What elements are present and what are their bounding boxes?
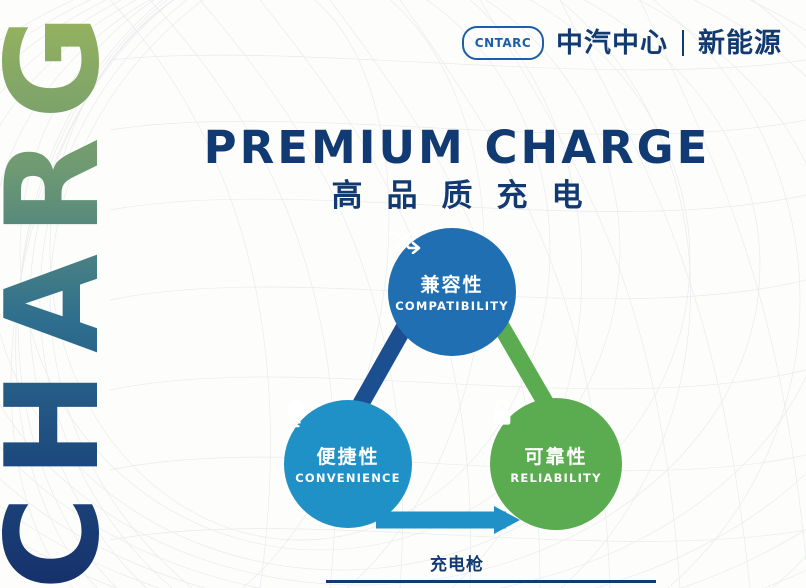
diagram-node-convenience[interactable]: 便捷性 CONVENIENCE — [284, 400, 412, 528]
diagram-node-reliability-label-en: RELIABILITY — [510, 471, 601, 485]
diagram-node-compatibility-label-en: COMPATIBILITY — [395, 299, 509, 313]
triangle-cycle-diagram: 兼容性 COMPATIBILITY 便捷性 CONVENIENCE — [258, 228, 658, 540]
diagram-node-reliability-label-cn: 可靠性 — [524, 447, 587, 470]
company-name-cn: 中汽中心 — [556, 30, 668, 57]
business-unit-cn: 新能源 — [698, 30, 782, 57]
diagram-node-compatibility-label-cn: 兼容性 — [420, 275, 483, 298]
left-vertical-wordmark-text: CHARGE — [0, 0, 108, 588]
footer-divider — [326, 580, 656, 583]
diagram-node-reliability[interactable]: 可靠性 RELIABILITY — [490, 398, 622, 530]
diagram-node-convenience-label-cn: 便捷性 — [316, 447, 379, 470]
page-title-english: PREMIUM CHARGE — [108, 124, 806, 171]
slide-canvas: CHARGE CNTARC 中汽中心 新能源 PREMIUM CHARGE 高品… — [0, 0, 806, 588]
logo-divider — [682, 30, 684, 56]
diagram-node-compatibility[interactable]: 兼容性 COMPATIBILITY — [388, 228, 516, 356]
cntarc-logo-icon: CNTARC — [462, 26, 544, 60]
diagram-node-convenience-label-en: CONVENIENCE — [295, 471, 400, 485]
page-title-chinese: 高品质充电 — [108, 179, 806, 213]
brand-logo: CNTARC 中汽中心 新能源 — [462, 26, 782, 60]
left-vertical-wordmark: CHARGE — [0, 0, 108, 588]
footer-section-label: 充电枪 — [108, 550, 806, 575]
page-title: PREMIUM CHARGE 高品质充电 — [108, 124, 806, 213]
